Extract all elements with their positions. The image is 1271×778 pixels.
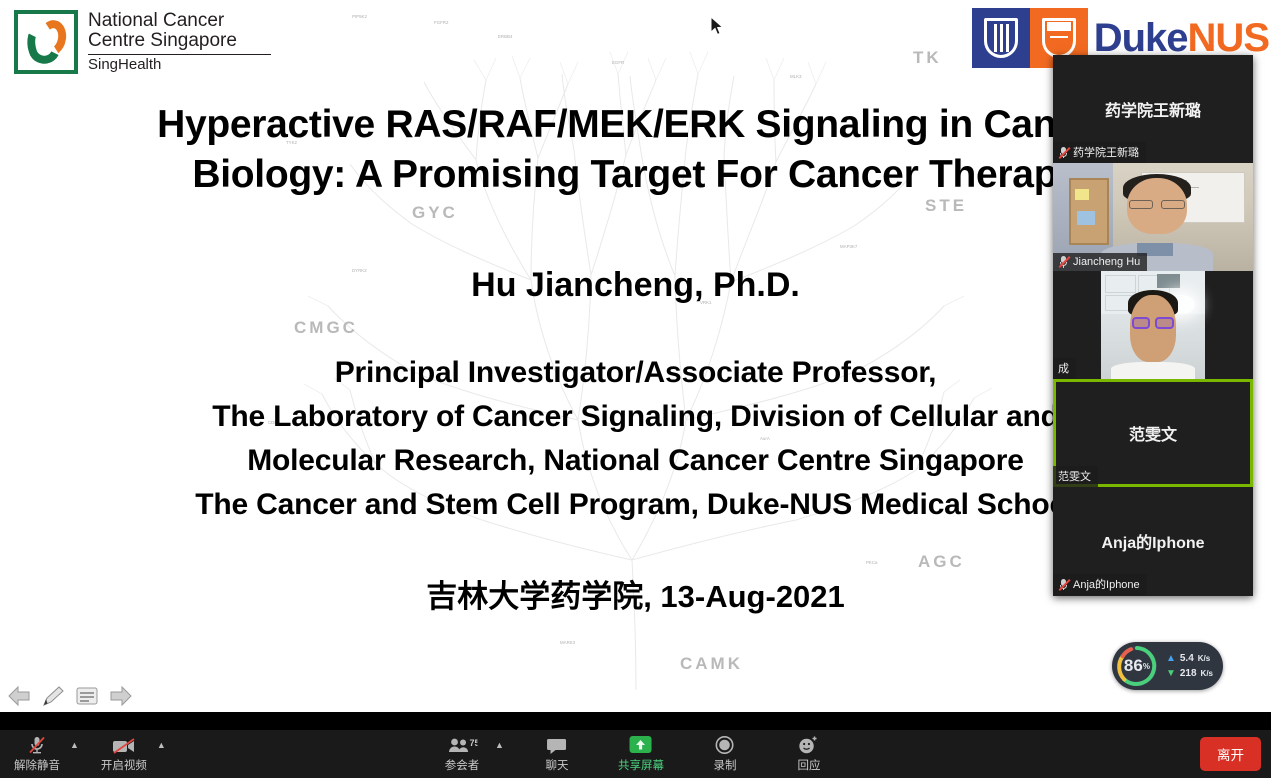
mute-button[interactable]: 解除静音 <box>6 731 68 777</box>
reactions-label: 回应 <box>797 757 820 773</box>
network-percent: 86 <box>1124 656 1143 676</box>
network-percent-unit: % <box>1143 662 1150 671</box>
kinome-group-tk: TK <box>913 48 942 68</box>
video-tile-2-name: 成 <box>1058 360 1069 376</box>
video-tile-2[interactable]: 成 <box>1053 271 1253 379</box>
chat-label: 聊天 <box>545 757 568 773</box>
upload-rate-row: ▲ 5.4 K/s <box>1166 651 1213 666</box>
video-options-chevron-up-icon[interactable]: ▲ <box>157 740 166 750</box>
network-monitor-widget[interactable]: 86% ▲ 5.4 K/s ▼ 218 K/s <box>1112 642 1223 690</box>
nccs-logo-rule <box>88 54 271 55</box>
chat-button[interactable]: 聊天 <box>526 731 588 777</box>
microphone-off-icon <box>27 735 47 755</box>
smiley-plus-icon <box>798 735 820 755</box>
audio-options-chevron-up-icon[interactable]: ▲ <box>70 740 79 750</box>
download-rate-value: 218 <box>1180 666 1197 681</box>
leave-meeting-button[interactable]: 离开 <box>1200 737 1261 771</box>
people-icon: 75 <box>447 735 477 755</box>
video-tile-3[interactable]: 范雯文 范雯文 <box>1053 379 1253 487</box>
video-tile-0-namebar: 药学院王新璐 <box>1053 142 1146 163</box>
black-separator-bar <box>0 712 1271 730</box>
nccs-singhealth-logo: National Cancer Centre Singapore SingHea… <box>14 10 271 74</box>
video-tile-4-namebar: Anja的Iphone <box>1053 574 1147 595</box>
video-tile-1-namebar: Jiancheng Hu <box>1053 253 1147 271</box>
participants-chevron-up-icon[interactable]: ▲ <box>495 740 504 750</box>
right-arrow-icon[interactable] <box>108 684 134 708</box>
video-tile-0[interactable]: 药学院王新璐 药学院王新璐 <box>1053 55 1253 163</box>
download-rate-unit: K/s <box>1201 666 1213 681</box>
start-video-button[interactable]: 开启视频 <box>93 731 155 777</box>
network-quality-ring: 86% <box>1114 643 1160 689</box>
microphone-off-icon <box>1058 255 1069 268</box>
nccs-swirl-icon <box>14 10 78 74</box>
camera-off-icon <box>112 735 136 755</box>
duke-word: Duke <box>1094 16 1188 60</box>
zoom-toolbar: 解除静音 ▲ 开启视频 ▲ <box>0 730 1271 778</box>
nus-word: NUS <box>1188 16 1269 60</box>
video-tile-4-name: Anja的Iphone <box>1073 576 1140 592</box>
start-video-label: 开启视频 <box>101 757 147 773</box>
video-tile-3-namebar: 范雯文 <box>1053 466 1098 487</box>
zoom-meeting-window: TK STE AGC CAMK CMGC GYC PIP5K2 FGFR2 ER… <box>0 0 1271 778</box>
share-screen-label: 共享屏幕 <box>618 757 664 773</box>
upload-rate-value: 5.4 <box>1180 651 1194 666</box>
video-tile-3-name: 范雯文 <box>1058 468 1091 484</box>
participants-button[interactable]: 75 参会者 <box>431 731 493 777</box>
video-tile-2-camera-feed <box>1101 271 1205 379</box>
nccs-logo-line1: National Cancer <box>88 11 271 32</box>
chat-bubble-icon <box>547 735 567 755</box>
record-label: 录制 <box>713 757 736 773</box>
share-screen-button[interactable]: 共享屏幕 <box>610 731 672 777</box>
upload-rate-unit: K/s <box>1198 651 1210 666</box>
download-rate-row: ▼ 218 K/s <box>1166 666 1213 681</box>
participants-label: 参会者 <box>445 757 480 773</box>
video-tile-1[interactable]: Jiancheng Hu <box>1053 163 1253 271</box>
video-tile-2-namebar: 成 <box>1053 358 1076 379</box>
upload-arrow-icon: ▲ <box>1166 651 1176 666</box>
video-tile-4[interactable]: Anja的Iphone Anja的Iphone <box>1053 487 1253 595</box>
left-arrow-icon[interactable] <box>6 684 32 708</box>
download-arrow-icon: ▼ <box>1166 666 1176 681</box>
nccs-logo-line3: SingHealth <box>88 57 271 73</box>
microphone-off-icon <box>1058 578 1069 591</box>
nccs-logo-line2: Centre Singapore <box>88 31 271 52</box>
powerpoint-nav-controls <box>6 684 134 708</box>
share-screen-icon <box>626 735 656 755</box>
svg-text:75: 75 <box>469 738 477 748</box>
reactions-button[interactable]: 回应 <box>778 731 840 777</box>
microphone-off-icon <box>1058 146 1069 159</box>
duke-shield-icon <box>972 8 1030 68</box>
mute-label: 解除静音 <box>14 757 60 773</box>
menu-icon[interactable] <box>74 684 100 708</box>
video-tile-0-name: 药学院王新璐 <box>1073 144 1139 160</box>
record-circle-icon <box>715 735 735 755</box>
kinome-group-camk: CAMK <box>680 654 743 674</box>
video-tile-1-name: Jiancheng Hu <box>1073 256 1140 268</box>
participant-video-strip[interactable]: 药学院王新璐 药学院王新璐 <box>1053 55 1253 596</box>
record-button[interactable]: 录制 <box>694 731 756 777</box>
pen-icon[interactable] <box>40 684 66 708</box>
